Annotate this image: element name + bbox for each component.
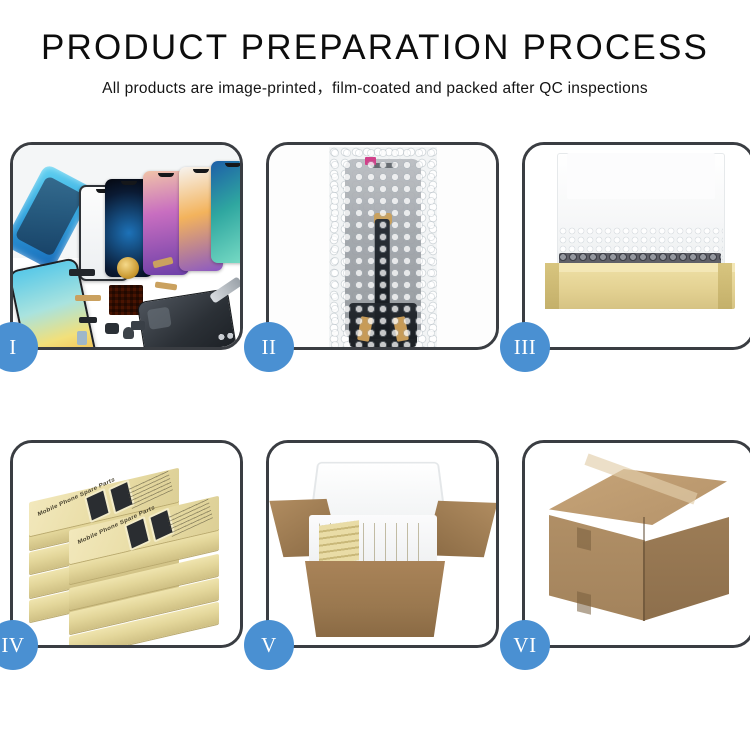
bubble-wrap-bag xyxy=(329,147,437,347)
notch-icon xyxy=(193,169,209,173)
speaker-coil-part xyxy=(117,257,139,279)
small-component xyxy=(77,331,87,345)
notch-icon xyxy=(121,181,137,185)
notch-icon xyxy=(158,173,174,177)
step-panel-3: III xyxy=(522,142,750,350)
step-panel-1: I xyxy=(10,142,243,350)
small-component xyxy=(105,323,119,334)
page-header: PRODUCT PREPARATION PROCESS All products… xyxy=(0,0,750,98)
flex-cable-part xyxy=(75,295,101,301)
step-image-3 xyxy=(525,145,750,347)
step-badge-3: III xyxy=(500,322,550,372)
step-badge-5: V xyxy=(244,620,294,670)
step-panel-6: VI xyxy=(522,440,750,648)
step-badge-2: II xyxy=(244,322,294,372)
step-image-4: Mobile Phone Spare Parts Mobile Phone Sp… xyxy=(13,443,240,645)
small-part-bar xyxy=(69,269,95,276)
step-panel-5: V xyxy=(266,440,499,648)
box-print-text-lines xyxy=(127,470,173,509)
pink-label-sticker xyxy=(365,157,376,165)
step-panel-2: II xyxy=(266,142,499,350)
carton-corner-edge xyxy=(643,517,645,621)
notch-icon xyxy=(225,163,240,167)
step-image-6 xyxy=(525,443,750,645)
box-stack: Mobile Phone Spare Parts Mobile Phone Sp… xyxy=(23,461,235,641)
process-steps-grid: I II III xyxy=(10,142,740,648)
phone-display-teal xyxy=(211,161,240,263)
step-image-1 xyxy=(13,145,240,347)
page-subtitle: All products are image-printed，film-coat… xyxy=(0,76,750,98)
box-flap-left xyxy=(545,263,559,309)
step-badge-6: VI xyxy=(500,620,550,670)
small-component xyxy=(123,327,134,339)
carton-side-face xyxy=(643,517,729,621)
page-title: PRODUCT PREPARATION PROCESS xyxy=(0,30,750,67)
screws-part xyxy=(217,331,239,343)
small-part-bar xyxy=(131,321,145,330)
step-image-5 xyxy=(269,443,496,645)
carton-front-face xyxy=(549,515,645,621)
small-part-bar xyxy=(79,317,97,323)
inner-boxes-stack xyxy=(319,520,359,566)
carton-body xyxy=(305,561,445,637)
yellow-box-base xyxy=(545,263,735,309)
carton-seam-tab xyxy=(577,591,591,614)
step-image-2 xyxy=(269,145,496,347)
carton-seam-tab xyxy=(577,527,591,550)
step-panel-4: Mobile Phone Spare Parts Mobile Phone Sp… xyxy=(10,440,243,648)
box-flap-right xyxy=(718,263,732,309)
